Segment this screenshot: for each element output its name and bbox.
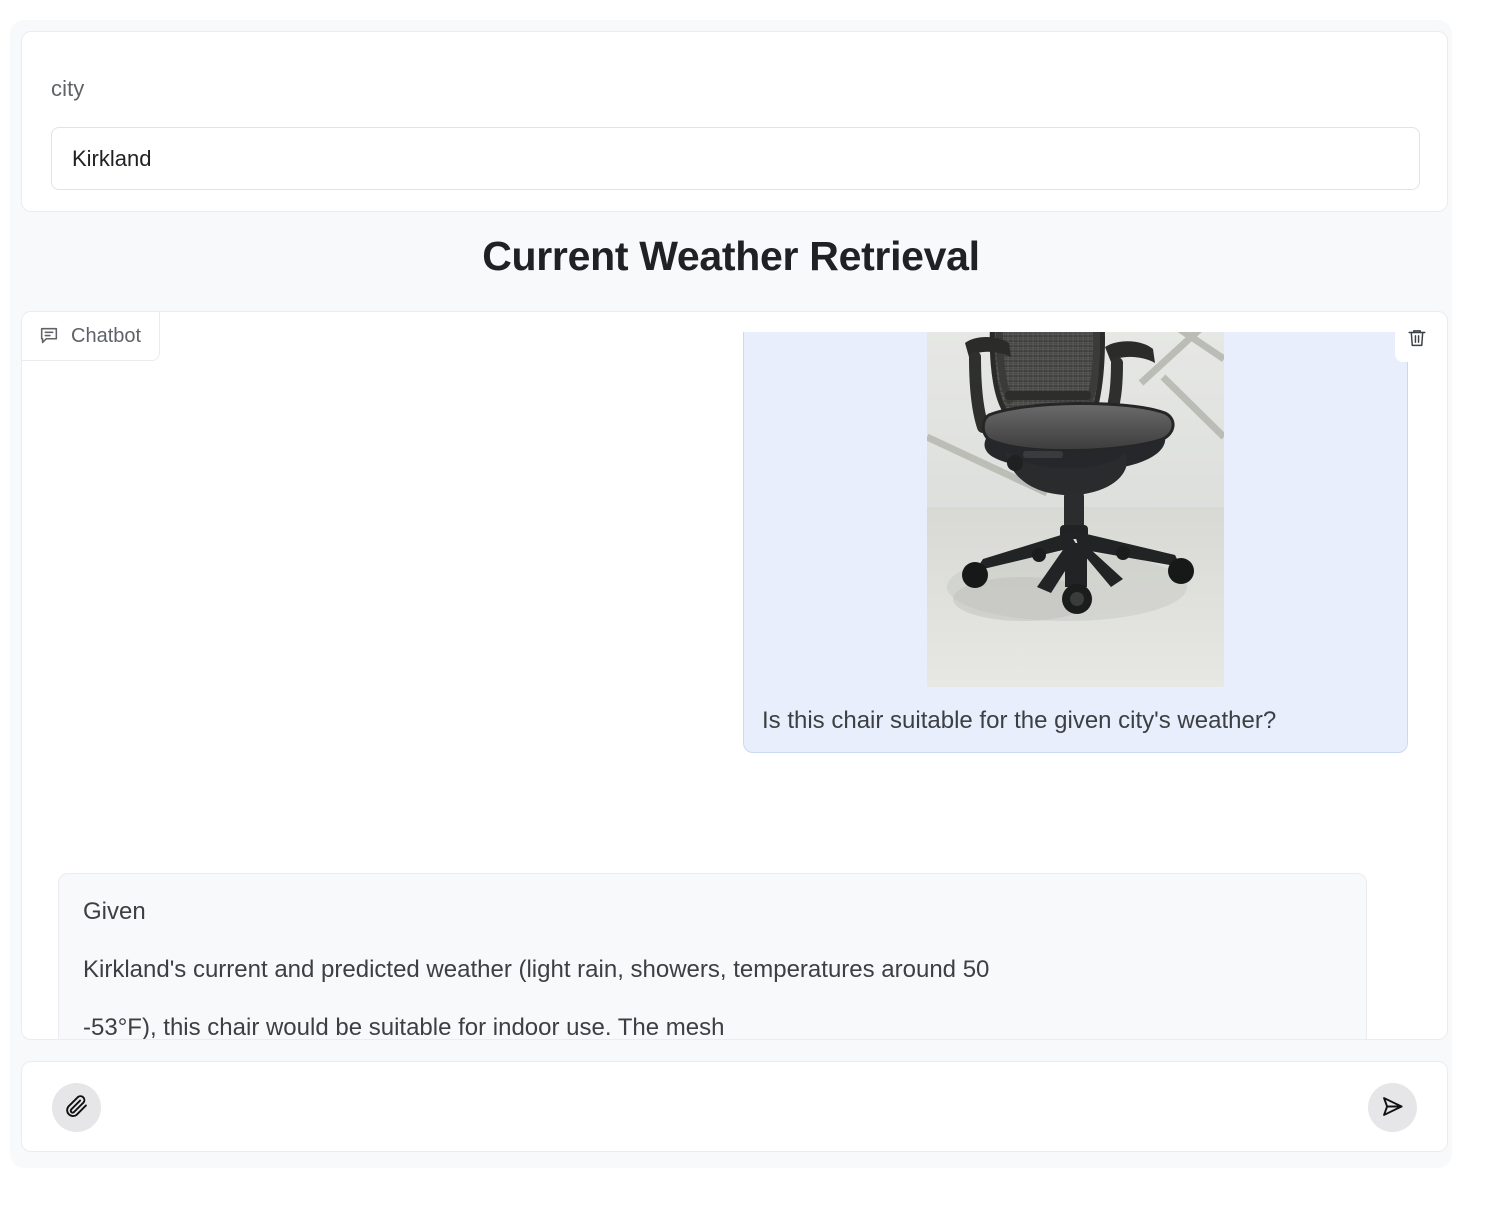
paperclip-icon	[63, 1093, 90, 1123]
chair-photo-svg	[927, 332, 1224, 687]
chatbot-label-tag: Chatbot	[22, 312, 160, 361]
assistant-message: Given Kirkland's current and predicted w…	[58, 873, 1367, 1040]
assistant-line-3: -53°F), this chair would be suitable for…	[83, 1016, 1342, 1040]
chatbot-panel: Chatbot	[21, 311, 1448, 1040]
user-message: Is this chair suitable for the given cit…	[743, 332, 1408, 753]
city-label: city	[51, 76, 84, 102]
clear-chat-button[interactable]	[1395, 318, 1439, 362]
chair-image[interactable]	[927, 332, 1224, 687]
message-list[interactable]: Is this chair suitable for the given cit…	[22, 332, 1448, 1040]
assistant-line-1: Given	[83, 900, 1342, 924]
chatbot-label: Chatbot	[71, 325, 141, 348]
composer-bar	[21, 1061, 1448, 1152]
send-icon	[1379, 1093, 1406, 1123]
attach-file-button[interactable]	[52, 1083, 101, 1132]
send-message-button[interactable]	[1368, 1083, 1417, 1132]
page-title: Current Weather Retrieval	[10, 233, 1452, 280]
trash-icon	[1406, 327, 1428, 354]
app-shell: city Current Weather Retrieval Chatbot	[10, 20, 1452, 1168]
city-input[interactable]	[51, 127, 1420, 190]
user-message-text: Is this chair suitable for the given cit…	[762, 705, 1389, 736]
chat-bubble-icon	[38, 325, 60, 347]
city-field-card: city	[21, 31, 1448, 212]
assistant-line-2: Kirkland's current and predicted weather…	[83, 958, 1342, 982]
